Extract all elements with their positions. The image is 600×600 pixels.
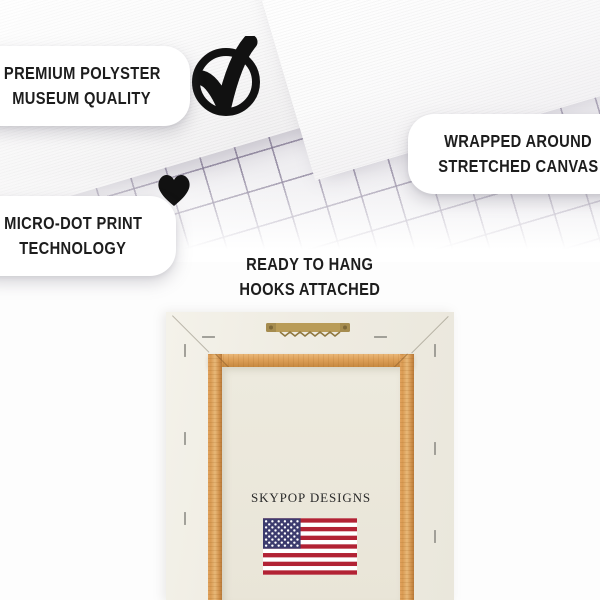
callout-line-1: WRAPPED AROUND bbox=[444, 129, 592, 154]
check-circle-icon bbox=[186, 36, 266, 120]
staple bbox=[184, 432, 186, 445]
staple bbox=[184, 344, 186, 357]
brand-text: SKYPOP DESIGNS bbox=[222, 490, 400, 506]
staple bbox=[434, 442, 436, 455]
canvas-back-product: SKYPOP DESIGNS bbox=[166, 312, 454, 600]
callout-line-1: PREMIUM POLYSTER bbox=[4, 61, 161, 86]
staple bbox=[374, 336, 387, 338]
us-flag-icon bbox=[263, 518, 357, 575]
staple bbox=[184, 512, 186, 525]
staple bbox=[434, 344, 436, 357]
callout-line-2: TECHNOLOGY bbox=[19, 236, 126, 261]
staple bbox=[202, 336, 215, 338]
heading-line-1: READY TO HANG bbox=[246, 252, 373, 277]
callout-line-1: MICRO-DOT PRINT bbox=[4, 211, 142, 236]
callout-wrapped-around: WRAPPED AROUND STRETCHED CANVAS bbox=[408, 114, 600, 194]
callout-line-2: STRETCHED CANVAS bbox=[438, 154, 598, 179]
stretcher-bar-right bbox=[400, 354, 414, 600]
sawtooth-hanger-icon bbox=[266, 322, 350, 338]
stretcher-bar-top bbox=[208, 354, 414, 367]
staple bbox=[434, 530, 436, 543]
callout-premium-polyster: PREMIUM POLYSTER MUSEUM QUALITY bbox=[0, 46, 190, 126]
heading-line-2: HOOKS ATTACHED bbox=[240, 277, 381, 302]
infographic-canvas: PREMIUM POLYSTER MUSEUM QUALITY WRAPPED … bbox=[0, 0, 600, 600]
stretcher-bar-left bbox=[208, 354, 222, 600]
callout-line-2: MUSEUM QUALITY bbox=[13, 86, 152, 111]
heading-ready-to-hang: READY TO HANG HOOKS ATTACHED bbox=[210, 252, 410, 303]
callout-micro-dot-print: MICRO-DOT PRINT TECHNOLOGY bbox=[0, 196, 176, 276]
